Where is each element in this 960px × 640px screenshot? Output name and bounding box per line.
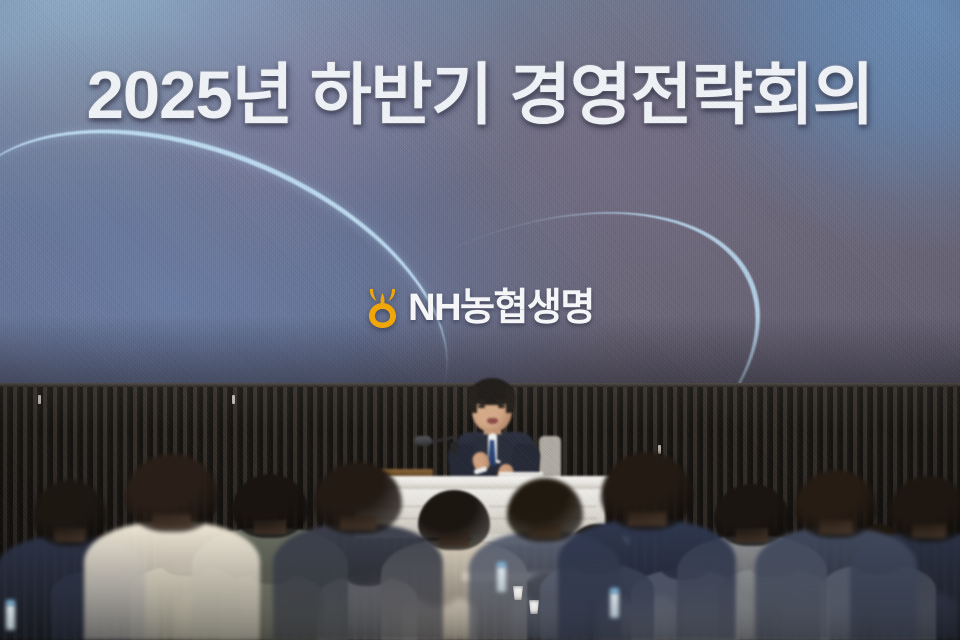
- audience-member-torso: [84, 522, 260, 640]
- audience-member: [300, 452, 416, 640]
- slide-title: 2025년 하반기 경영전략회의: [0, 62, 960, 129]
- water-bottle-cap: [6, 600, 15, 605]
- conference-photo: 2025년 하반기 경영전략회의 NH농협생명: [0, 0, 960, 640]
- audience-member-head: [232, 474, 308, 538]
- nh-sprout-symbol: [366, 288, 399, 328]
- audience-member-torso: [273, 524, 443, 640]
- audience-group: [0, 400, 960, 640]
- audience-member-head: [125, 454, 219, 532]
- projection-screen: 2025년 하반기 경영전략회의 NH농협생명: [0, 0, 960, 385]
- water-bottle-cap: [610, 588, 619, 593]
- audience-member-head: [314, 462, 402, 534]
- audience-member: [780, 460, 892, 640]
- audience-member-head: [507, 478, 583, 542]
- water-bottle: [6, 604, 15, 630]
- audience-member-head: [795, 470, 877, 538]
- water-bottle: [497, 566, 506, 592]
- audience-member: [112, 444, 232, 640]
- nh-wordmark: NH농협생명: [408, 289, 594, 327]
- audience-member-head: [889, 476, 960, 542]
- audience-member-head: [601, 452, 693, 530]
- audience-member-head: [33, 480, 107, 546]
- audience-member: [586, 442, 708, 640]
- audience-member-torso: [755, 528, 917, 640]
- water-bottle-cap: [497, 562, 506, 567]
- nh-logo-lockup: NH농협생명: [0, 288, 960, 328]
- water-bottle: [610, 592, 619, 618]
- audience-member-torso: [558, 520, 736, 640]
